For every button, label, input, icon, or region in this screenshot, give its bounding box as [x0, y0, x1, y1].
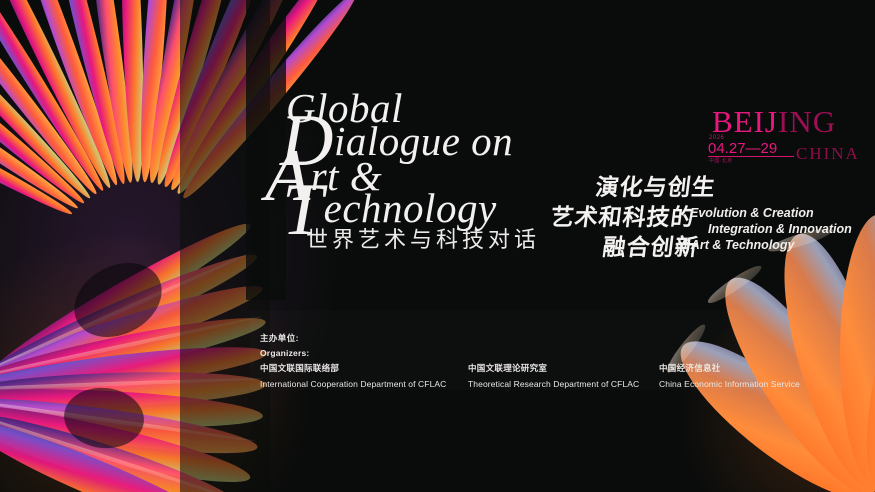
city-name: BEIJING	[712, 106, 836, 137]
theme-chinese-line-1: 演化与创生	[594, 168, 718, 202]
organizer-item: 中国文联理论研究室 Theoretical Research Departmen…	[468, 362, 639, 389]
theme-chinese-line-2: 艺术和科技的	[549, 198, 697, 232]
organizer-name-english: International Cooperation Department of …	[260, 379, 446, 389]
country-name: CHINA	[796, 144, 860, 164]
city-name-chinese: 中国·北京	[709, 157, 733, 164]
theme-english-line-2: Integration & Innovation	[708, 222, 852, 236]
city-name-dim: ING	[778, 104, 836, 139]
organizers-panel: 主办单位: Organizers: 中国文联国际联络部 Internationa…	[250, 310, 850, 390]
location-lockup: BEIJING 2026 04.27—29 中国·北京 CHINA	[706, 106, 856, 166]
headline-chinese-subtitle: 世界艺术与科技对话	[306, 222, 540, 254]
main-headline: Global Dialogue on Art & Technology	[262, 88, 562, 238]
organizer-name-chinese: 中国经济信息社	[659, 362, 800, 374]
city-name-bright: BEIJ	[712, 104, 778, 139]
theme-english-line-3: of Art & Technology	[676, 238, 795, 252]
organizer-name-chinese: 中国文联国际联络部	[260, 362, 446, 374]
poster-canvas: Global Dialogue on Art & Technology 世界艺术…	[0, 0, 875, 492]
organizers-label-chinese: 主办单位:	[260, 332, 309, 344]
organizer-item: 中国文联国际联络部 International Cooperation Depa…	[260, 362, 446, 389]
organizer-name-english: Theoretical Research Department of CFLAC	[468, 379, 639, 389]
organizer-name-english: China Economic Information Service	[659, 379, 800, 389]
organizer-name-chinese: 中国文联理论研究室	[468, 362, 639, 374]
organizers-heading: 主办单位: Organizers:	[260, 332, 309, 358]
organizers-label-english: Organizers:	[260, 348, 309, 358]
organizer-item: 中国经济信息社 China Economic Information Servi…	[659, 362, 800, 389]
theme-block: 演化与创生 艺术和科技的 融合创新 Evolution & Creation I…	[548, 168, 848, 260]
event-dates: 04.27—29	[708, 140, 777, 157]
theme-english-line-1: Evolution & Creation	[690, 206, 814, 220]
